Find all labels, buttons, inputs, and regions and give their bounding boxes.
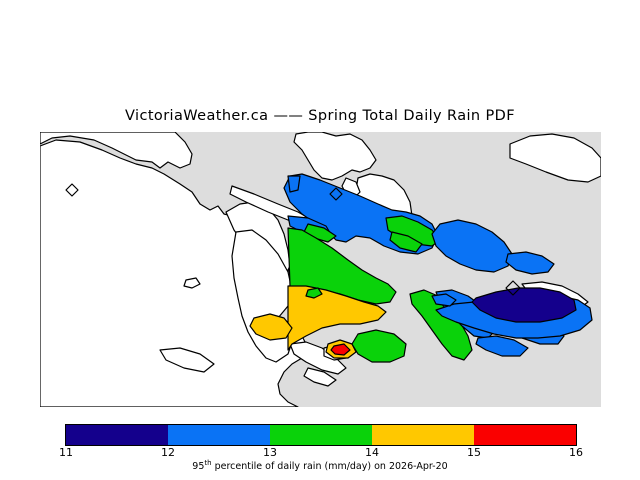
colorbar-tick-13: 13 [263,446,277,459]
colorbar-tick-16: 16 [569,446,583,459]
caption-superscript: th [204,459,211,467]
colorbar-tick-15: 15 [467,446,481,459]
page-title: VictoriaWeather.ca —— Spring Total Daily… [0,108,640,124]
caption-prefix: 95 [192,461,204,472]
colorbar-band-11-12[interactable] [66,425,168,445]
colorbar-band-15-16[interactable] [474,425,576,445]
colorbar-band-13-14[interactable] [270,425,372,445]
colorbar-band-14-15[interactable] [372,425,474,445]
colorbar-tick-12: 12 [161,446,175,459]
colorbar-band-12-13[interactable] [168,425,270,445]
colorbar-tick-14: 14 [365,446,379,459]
map-panel[interactable] [40,132,601,407]
map-canvas[interactable] [40,132,601,407]
caption-rest: percentile of daily rain (mm/day) on 202… [212,461,448,472]
colorbar-caption: 95th percentile of daily rain (mm/day) o… [0,459,640,472]
colorbar[interactable] [65,424,577,446]
colorbar-bands[interactable] [65,424,577,446]
region-west-edge-blue-upper[interactable] [288,176,300,192]
colorbar-tick-11: 11 [59,446,73,459]
